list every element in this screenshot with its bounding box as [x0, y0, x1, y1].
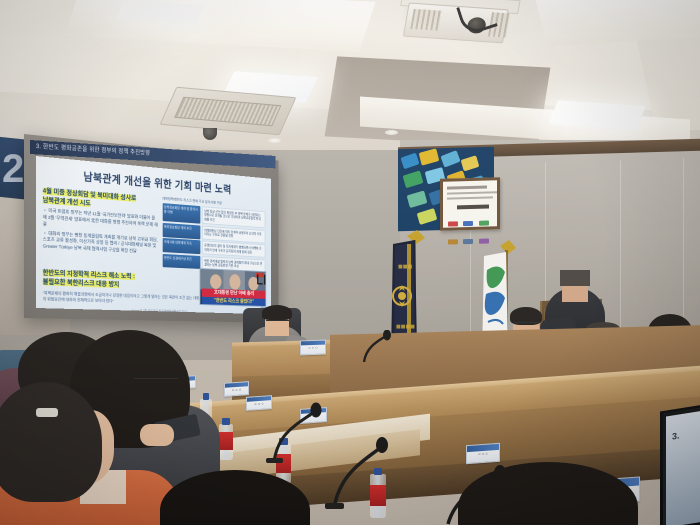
- certificate-line: [447, 196, 493, 199]
- downlight-icon: [268, 138, 281, 143]
- news-clip-thumbnail: LIVE 文대통령 만난 아베 총리 "한반도 리스크 줄었다!": [199, 268, 266, 307]
- slide-section-2-line-2: 불필요한 북한리스크 대응 방지: [43, 279, 120, 289]
- dome-security-camera-icon: [203, 128, 217, 140]
- slide-table-key: 한반도 신경제구상 추진: [162, 254, 200, 270]
- name-placard: ○ ○ ○: [224, 381, 249, 397]
- attendee-orange-jacket-hair: [0, 382, 102, 502]
- svg-text:■■■: ■■■: [398, 264, 412, 270]
- name-placard: ○ ○ ○: [300, 340, 326, 356]
- certificate-title-line: [457, 205, 489, 210]
- bottle-cap: [203, 393, 210, 400]
- speaker-at-podium-hair: [560, 270, 590, 286]
- head-table-man-hair: [262, 305, 292, 320]
- bottle-label: [219, 432, 233, 450]
- water-bottle: [219, 418, 233, 460]
- news-live-badge: LIVE: [256, 273, 264, 278]
- certificate-logo-row: [448, 214, 498, 228]
- panelist-glasses-eyewear-icon: [514, 322, 538, 326]
- head-table-man-eyewear-icon: [266, 320, 289, 324]
- name-placard-name: ○ ○ ○: [467, 450, 499, 458]
- attendee-phone-eyewear-icon: [134, 378, 178, 383]
- hair-clip-icon: [36, 408, 58, 417]
- gooseneck-microphone: [320, 432, 400, 510]
- name-placard-name: ○ ○ ○: [225, 386, 248, 393]
- slide-table-key: 남북정상회담 개최 및 합의사항 이행: [162, 203, 200, 224]
- gooseneck-microphone: [358, 330, 398, 364]
- framed-certificate: [440, 177, 500, 231]
- conference-room-photo: 2: [0, 0, 700, 525]
- attendee-phone-hand: [140, 424, 174, 446]
- slide-left-column: 4월 미중 정상회담 및 북미대화 성사로 남북관계 개선 시도 ‧ 미국 트럼…: [43, 187, 158, 269]
- side-monitor-label: 3.: [672, 430, 680, 441]
- slide-table-key: 국제사회 대북제재 지속: [162, 238, 200, 254]
- downlight-icon: [385, 130, 398, 135]
- certificate-line: [447, 191, 497, 194]
- side-monitor[interactable]: 3.: [660, 405, 700, 525]
- presentation-slide: 남북관계 개선을 위한 기회 마련 노력 4월 미중 정상회담 및 북미대화 성…: [36, 156, 271, 314]
- certificate-line: [447, 186, 487, 190]
- side-monitor-screen: 3.: [666, 411, 700, 525]
- svg-text:■■■■: ■■■■: [396, 324, 415, 330]
- slide-right-column: 대북정책/한반도 리스크 변화 주요 분석사항 구분 남북정상회담 개최 및 합…: [162, 196, 265, 273]
- slide-section-1-line-2: 남북관계 개선 시도: [43, 197, 91, 208]
- cove-light-strip-2: [535, 0, 700, 46]
- name-placard: ○ ○ ○: [466, 443, 500, 464]
- bottle-cap: [222, 418, 230, 425]
- name-placard-name: ○ ○ ○: [301, 345, 325, 351]
- projector-vent: [410, 9, 442, 31]
- slide-table-key: 북미정상회담 개최 추진: [162, 223, 200, 239]
